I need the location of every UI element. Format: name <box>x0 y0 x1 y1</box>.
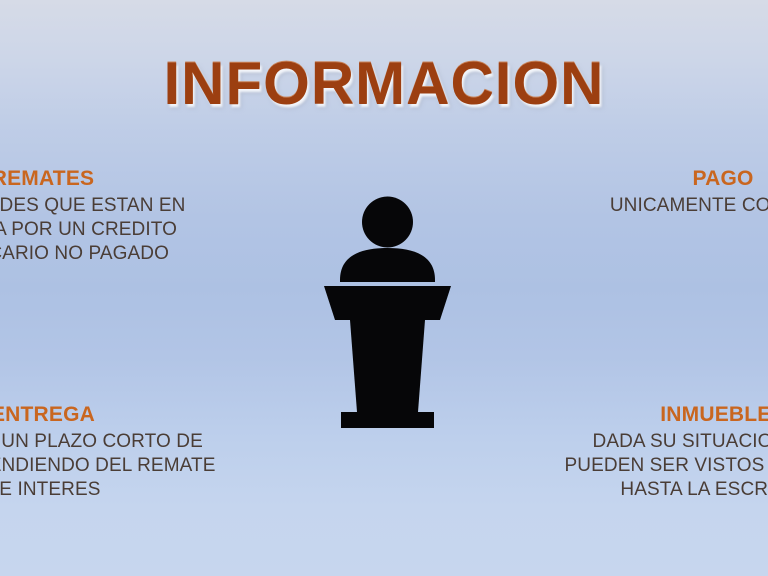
block-line: HASTA LA ESCRITURA <box>548 478 768 502</box>
block-line: DENTRO DE UN PLAZO CORTO DE <box>0 430 218 454</box>
text-block-remates: REMATES PROPIEDADES QUE ESTAN EN GARANTI… <box>0 167 218 266</box>
block-heading-pago: PAGO <box>548 167 768 192</box>
block-heading-remates: REMATES <box>0 167 218 192</box>
block-line: UNICAMENTE CONTADO <box>548 194 768 218</box>
block-line: DE INTERES <box>0 478 218 502</box>
block-line: PUEDEN SER VISTOS POR FUERA <box>548 454 768 478</box>
block-line: GARANTIA POR UN CREDITO <box>0 218 218 242</box>
block-line: HIPOTECARIO NO PAGADO <box>0 242 218 266</box>
block-heading-inmuebles: INMUEBLES <box>548 403 768 428</box>
block-line: PROPIEDADES QUE ESTAN EN <box>0 194 218 218</box>
block-line: TIEMPO DEPENDIENDO DEL REMATE <box>0 454 218 478</box>
block-line: DADA SU SITUACION LEGAL <box>548 430 768 454</box>
presentation-slide: INFORMACION REMATES PROPIEDADES QUE ESTA… <box>0 0 768 576</box>
text-block-inmuebles: INMUEBLES DADA SU SITUACION LEGAL PUEDEN… <box>548 403 768 502</box>
slide-title: INFORMACION <box>0 54 768 114</box>
podium-speaker-icon <box>310 190 465 435</box>
block-heading-entrega: ENTREGA <box>0 403 218 428</box>
text-block-pago: PAGO UNICAMENTE CONTADO <box>548 167 768 218</box>
text-block-entrega: ENTREGA DENTRO DE UN PLAZO CORTO DE TIEM… <box>0 403 218 502</box>
